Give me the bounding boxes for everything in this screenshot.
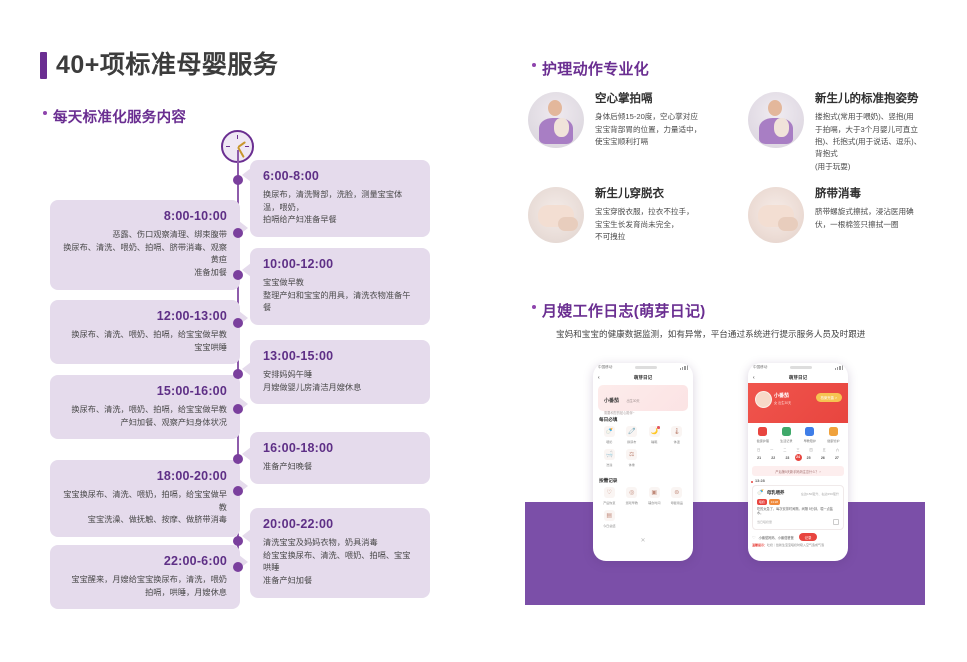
care-item: 空心掌拍嗝身体后倾15-20度，空心掌对应 宝宝背部胃的位置，力量适中， 使宝宝… bbox=[528, 92, 736, 173]
care-row: 新生儿穿脱衣宝宝穿脱衣服，拉衣不拉手， 宝宝生长发育尚未完全， 不可拽拉脐带消毒… bbox=[528, 187, 958, 243]
action-label: 换尿布 bbox=[621, 439, 644, 444]
action-icon: 🛁 bbox=[604, 449, 615, 460]
category-label: 健康管护 bbox=[822, 438, 846, 443]
quick-action-item[interactable]: ▣辅食时间 bbox=[643, 487, 666, 505]
timeline-time: 10:00-12:00 bbox=[263, 257, 417, 272]
required-icon-grid: 🍼喂奶🧷换尿布🌙睡眠🌡体温🛁洗澡⚖体重 bbox=[593, 426, 693, 472]
category-icon bbox=[758, 427, 767, 436]
entry-timestamp: 13:28 bbox=[755, 479, 848, 483]
calendar-day[interactable]: 22 bbox=[766, 454, 780, 462]
timeline-node bbox=[233, 318, 243, 328]
status-bar: 中国移动 bbox=[593, 363, 693, 372]
section-heading-text: 月嫂工作日志(萌芽日记) bbox=[542, 300, 706, 321]
timeline-card: 22:00-6:00宝宝醒来，月嫂给宝宝换尿布，清洗，喂奶 拍嗝，哄睡，月嫂休息 bbox=[50, 545, 240, 609]
action-icon: 🌡 bbox=[671, 426, 682, 437]
care-item-grid: 空心掌拍嗝身体后倾15-20度，空心掌对应 宝宝背部胃的位置，力量适中， 使宝宝… bbox=[528, 92, 958, 257]
timeline-card: 18:00-20:00宝宝换尿布、清洗、喂奶，拍嗝，给宝宝做早教 宝宝洗澡、做抚… bbox=[50, 460, 240, 537]
quick-action-item[interactable]: 🍼喂奶 bbox=[598, 426, 621, 444]
entry-tag-row: 喂奶 13:28 bbox=[757, 499, 839, 505]
timeline-time: 6:00-8:00 bbox=[263, 169, 417, 184]
umbilical-care-photo bbox=[748, 187, 804, 243]
timeline-card: 20:00-22:00清洗宝宝及妈妈衣物，奶具消毒 给宝宝换尿布、清洗、喂奶、拍… bbox=[250, 508, 430, 598]
action-icon: ⊜ bbox=[671, 487, 682, 498]
baby-age: 出生30天 bbox=[626, 399, 639, 403]
signal-icon bbox=[835, 365, 843, 370]
section-heading-text: 护理动作专业化 bbox=[542, 58, 649, 79]
weekday-label: 日 bbox=[752, 446, 765, 454]
category-icon bbox=[782, 427, 791, 436]
action-label: 睡眠 bbox=[643, 439, 666, 444]
entry-subtotal: 当日喂奶量 bbox=[757, 520, 772, 524]
entry-amount: 左边150毫升、右边150毫升 bbox=[801, 491, 839, 496]
section-label-required: 每日必填 bbox=[599, 417, 693, 423]
signal-icon bbox=[680, 365, 688, 370]
worklog-description: 宝妈和宝宝的健康数据监测，如有异常，平台通过系统进行提示服务人员及时跟进 bbox=[556, 328, 956, 341]
timeline-node bbox=[233, 536, 243, 546]
close-icon[interactable]: ✕ bbox=[593, 537, 693, 544]
calendar-day[interactable]: 27 bbox=[830, 454, 844, 462]
action-label: 今日总结 bbox=[598, 523, 621, 528]
weekday-label: 五 bbox=[818, 446, 831, 454]
action-icon: 🍼 bbox=[604, 426, 615, 437]
quick-action-item[interactable]: 🛁洗澡 bbox=[598, 449, 621, 467]
category-tab-row: 健康护理生活记录早教陪护健康管护 bbox=[748, 423, 848, 445]
timeline-node bbox=[233, 369, 243, 379]
card-pointer bbox=[242, 168, 251, 182]
action-label: 游戏早教 bbox=[621, 500, 644, 505]
card-pointer bbox=[242, 263, 251, 277]
action-label: 体重 bbox=[621, 462, 644, 467]
warm-tip-label: 温馨提示： bbox=[752, 543, 767, 547]
category-tab[interactable]: 早教陪护 bbox=[798, 427, 822, 443]
quick-action-item[interactable]: ◎游戏早教 bbox=[621, 487, 644, 505]
category-label: 生活记录 bbox=[775, 438, 799, 443]
weekday-label: 六 bbox=[831, 446, 844, 454]
title-accent-bar bbox=[40, 52, 47, 79]
diary-entry-card[interactable]: 🍼 母乳喂养 左边150毫升、右边150毫升 喂奶 13:28 吃的太急了，每次… bbox=[752, 485, 844, 530]
carrier-label: 中国移动 bbox=[753, 365, 767, 370]
action-icon: 🌙 bbox=[649, 426, 660, 437]
phone-mockup-diary-entry: 中国移动 ‹ 萌芽日记 小番茄 出生30天 需要和您的贴心陪伴~ 每日必填 🍼喂… bbox=[593, 363, 693, 561]
care-title: 空心掌拍嗝 bbox=[595, 92, 736, 106]
entry-tag: 13:28 bbox=[769, 499, 780, 505]
phone-mockup-diary-list: 中国移动 ‹ 萌芽日记 小番茄 女 出生30天 档案完善 > 健康护理生活记录早… bbox=[748, 363, 848, 561]
timeline-body: 换尿布、清洗，喂奶、拍嗝，给宝宝做早教 产妇加餐、观察产妇身体状况 bbox=[63, 404, 227, 429]
timeline-time: 22:00-6:00 bbox=[63, 554, 227, 569]
care-title: 新生儿穿脱衣 bbox=[595, 187, 736, 201]
profile-complete-button[interactable]: 档案完善 > bbox=[816, 393, 842, 402]
badge-dot bbox=[657, 426, 660, 429]
card-pointer bbox=[242, 362, 251, 376]
care-item: 新生儿的标准抱姿势搂抱式(常用于喂奶)、竖抱(用 于拍嗝，大于3个月婴儿可直立 … bbox=[748, 92, 956, 173]
nav-title: 萌芽日记 bbox=[789, 375, 807, 381]
action-icon: ▣ bbox=[649, 487, 660, 498]
category-tab[interactable]: 健康护理 bbox=[751, 427, 775, 443]
heart-icon[interactable]: ♡ bbox=[752, 535, 756, 540]
quick-action-item[interactable]: ♡产后恢复 bbox=[598, 487, 621, 505]
quick-action-item[interactable]: 🌙睡眠 bbox=[643, 426, 666, 444]
timeline-time: 16:00-18:00 bbox=[263, 441, 417, 456]
nav-title: 萌芽日记 bbox=[634, 375, 652, 381]
baby-meta: 女 出生30天 bbox=[774, 400, 791, 405]
timeline-card: 15:00-16:00换尿布、清洗，喂奶、拍嗝，给宝宝做早教 产妇加餐、观察产妇… bbox=[50, 375, 240, 439]
warm-tip: 温馨提示：吐奶｜给新生宝宝喂奶时吸入空气造成气泡 bbox=[752, 543, 844, 547]
timeline-body: 换尿布，清洗臀部，洗脸，测量宝宝体温，喂奶， 拍嗝给产妇准备早餐 bbox=[263, 189, 417, 227]
baby-profile-banner: 小番茄 女 出生30天 档案完善 > bbox=[748, 383, 848, 423]
care-title: 新生儿的标准抱姿势 bbox=[815, 92, 956, 106]
section-label-optional: 按需记录 bbox=[599, 478, 693, 484]
action-icon: ▤ bbox=[604, 510, 615, 521]
timeline-time: 18:00-20:00 bbox=[63, 469, 227, 484]
calendar-strip: 日一二三四五六 21222324252627 bbox=[748, 445, 848, 465]
action-icon: ◎ bbox=[626, 487, 637, 498]
nav-bar: ‹ 萌芽日记 bbox=[748, 372, 848, 383]
care-description: 脐带螺旋式擦拭，浸沾医用碘 伏，一根棉签只擦拭一圈 bbox=[815, 206, 956, 231]
action-icon: ♡ bbox=[604, 487, 615, 498]
dressing-baby-photo bbox=[528, 187, 584, 243]
timeline-body: 安排妈妈午睡 月嫂做婴儿房清洁月嫂休息 bbox=[263, 369, 417, 394]
status-bar: 中国移动 bbox=[748, 363, 848, 372]
timeline-body: 宝宝换尿布、清洗、喂奶，拍嗝，给宝宝做早教 宝宝洗澡、做抚触、按摩、做脐带消毒 bbox=[63, 489, 227, 527]
calendar-day[interactable]: 26 bbox=[816, 454, 830, 462]
timeline-card: 8:00-10:00恶露、伤口观察清理、绑束腹带 换尿布、清洗、喂奶、拍嗝、脐带… bbox=[50, 200, 240, 290]
nurse-cradling-baby-photo bbox=[748, 92, 804, 148]
checkbox-icon[interactable] bbox=[833, 519, 839, 525]
section-heading-worklog: 月嫂工作日志(萌芽日记) bbox=[532, 300, 706, 321]
entry-header: 🍼 母乳喂养 左边150毫升、右边150毫升 bbox=[757, 490, 839, 496]
category-tab[interactable]: 生活记录 bbox=[775, 427, 799, 443]
bottle-icon: 🍼 bbox=[757, 490, 764, 496]
tip-banner[interactable]: 产后第5天新手妈妈注意什么？ › bbox=[752, 466, 844, 476]
timeline-body: 宝宝做早教 整理产妇和宝宝的用具，清洗衣物准备午餐 bbox=[263, 277, 417, 315]
action-label: 喂奶 bbox=[598, 439, 621, 444]
weekday-label: 三 bbox=[791, 446, 804, 454]
calendar-day-selected[interactable]: 24 bbox=[795, 454, 802, 461]
action-label: 洗澡 bbox=[598, 462, 621, 467]
category-tab[interactable]: 健康管护 bbox=[822, 427, 846, 443]
timeline-body: 恶露、伤口观察清理、绑束腹带 换尿布、清洗、喂奶、拍嗝、脐带消毒、观察黄疸 准备… bbox=[63, 229, 227, 280]
care-item: 新生儿穿脱衣宝宝穿脱衣服，拉衣不拉手， 宝宝生长发育尚未完全， 不可拽拉 bbox=[528, 187, 736, 243]
care-row: 空心掌拍嗝身体后倾15-20度，空心掌对应 宝宝背部胃的位置，力量适中， 使宝宝… bbox=[528, 92, 958, 173]
timeline-node bbox=[233, 486, 243, 496]
notch bbox=[635, 366, 657, 369]
timeline-time: 8:00-10:00 bbox=[63, 209, 227, 224]
weekday-row: 日一二三四五六 bbox=[752, 446, 844, 454]
page-title-text: 40+项标准母婴服务 bbox=[56, 53, 278, 78]
purple-background-block bbox=[525, 502, 925, 605]
baby-slogan: 需要和您的贴心陪伴~ bbox=[604, 410, 682, 415]
bullet-dot-icon bbox=[532, 63, 536, 67]
day-row: 21222324252627 bbox=[752, 454, 844, 462]
section-heading-text: 每天标准化服务内容 bbox=[53, 106, 186, 127]
nav-bar: ‹ 萌芽日记 bbox=[593, 372, 693, 383]
timeline-card: 12:00-13:00换尿布、清洗、喂奶、拍嗝，给宝宝做早教 宝宝哄睡 bbox=[50, 300, 240, 364]
optional-icon-grid: ♡产后恢复◎游戏早教▣辅食时间⊜母婴用品▤今日总结 bbox=[593, 487, 693, 533]
avatar bbox=[755, 391, 772, 408]
timeline-node bbox=[233, 562, 243, 572]
timeline-time: 13:00-15:00 bbox=[263, 349, 417, 364]
timeline-time: 15:00-16:00 bbox=[63, 384, 227, 399]
timeline-body: 准备产妇晚餐 bbox=[263, 461, 417, 474]
timeline-body: 换尿布、清洗、喂奶、拍嗝，给宝宝做早教 宝宝哄睡 bbox=[63, 329, 227, 354]
entry-action-row: ♡ 小番茄妈妈、小番茄爸爸 记录 bbox=[752, 533, 844, 541]
chevron-left-icon[interactable]: ‹ bbox=[753, 375, 755, 381]
page-title: 40+项标准母婴服务 bbox=[40, 52, 278, 79]
chevron-left-icon[interactable]: ‹ bbox=[598, 375, 600, 381]
quick-action-item[interactable]: ⊜母婴用品 bbox=[666, 487, 689, 505]
timeline-node bbox=[233, 404, 243, 414]
action-label: 体温 bbox=[666, 439, 689, 444]
weekday-label: 四 bbox=[805, 446, 818, 454]
timeline-node bbox=[233, 270, 243, 280]
timeline-card: 13:00-15:00安排妈妈午睡 月嫂做婴儿房清洁月嫂休息 bbox=[250, 340, 430, 404]
timeline-body: 宝宝醒来，月嫂给宝宝换尿布，清洗，喂奶 拍嗝，哄睡，月嫂休息 bbox=[63, 574, 227, 599]
care-title: 脐带消毒 bbox=[815, 187, 956, 201]
care-item: 脐带消毒脐带螺旋式擦拭，浸沾医用碘 伏，一根棉签只擦拭一圈 bbox=[748, 187, 956, 243]
weekday-label: 二 bbox=[778, 446, 791, 454]
category-label: 健康护理 bbox=[751, 438, 775, 443]
action-label: 母婴用品 bbox=[666, 500, 689, 505]
bullet-dot-icon bbox=[43, 111, 47, 115]
timeline-time: 20:00-22:00 bbox=[263, 517, 417, 532]
entry-footer: 当日喂奶量 bbox=[757, 519, 839, 525]
category-icon bbox=[805, 427, 814, 436]
entry-text: 吃的太急了，每次安排时间隔，间隔 5分钟，喂一点盐水。 bbox=[757, 507, 839, 517]
baby-profile-card[interactable]: 小番茄 出生30天 需要和您的贴心陪伴~ bbox=[598, 385, 688, 411]
timeline-time: 12:00-13:00 bbox=[63, 309, 227, 324]
timeline-card: 16:00-18:00准备产妇晚餐 bbox=[250, 432, 430, 484]
action-label: 辅食时间 bbox=[643, 500, 666, 505]
calendar-day[interactable]: 23 bbox=[780, 454, 794, 462]
warm-tip-text: 吐奶｜给新生宝宝喂奶时吸入空气造成气泡 bbox=[767, 543, 824, 547]
timeline-node bbox=[233, 454, 243, 464]
section-heading-daily-service: 每天标准化服务内容 bbox=[43, 106, 186, 127]
record-button[interactable]: 记录 bbox=[799, 533, 818, 541]
category-label: 早教陪护 bbox=[798, 438, 822, 443]
care-description: 宝宝穿脱衣服，拉衣不拉手， 宝宝生长发育尚未完全， 不可拽拉 bbox=[595, 206, 736, 243]
notch bbox=[790, 366, 812, 369]
timeline-card: 6:00-8:00换尿布，清洗臀部，洗脸，测量宝宝体温，喂奶， 拍嗝给产妇准备早… bbox=[250, 160, 430, 237]
timeline-card: 10:00-12:00宝宝做早教 整理产妇和宝宝的用具，清洗衣物准备午餐 bbox=[250, 248, 430, 325]
care-description: 搂抱式(常用于喂奶)、竖抱(用 于拍嗝，大于3个月婴儿可直立 抱)、托抱式(用于… bbox=[815, 111, 956, 172]
category-icon bbox=[829, 427, 838, 436]
timeline-node bbox=[233, 175, 243, 185]
calendar-day[interactable]: 25 bbox=[802, 454, 816, 462]
quick-action-item[interactable]: ▤今日总结 bbox=[598, 510, 621, 528]
carrier-label: 中国移动 bbox=[598, 365, 612, 370]
quick-action-item[interactable]: 🧷换尿布 bbox=[621, 426, 644, 444]
entry-title: 母乳喂养 bbox=[767, 490, 785, 496]
action-icon: ⚖ bbox=[626, 449, 637, 460]
nurse-holding-baby-photo bbox=[528, 92, 584, 148]
entry-tag: 喂奶 bbox=[757, 499, 767, 505]
baby-name: 小番茄 bbox=[604, 398, 619, 404]
care-description: 身体后倾15-20度，空心掌对应 宝宝背部胃的位置，力量适中， 使宝宝顺利打嗝 bbox=[595, 111, 736, 148]
timeline-body: 清洗宝宝及妈妈衣物，奶具消毒 给宝宝换尿布、清洗、喂奶、拍嗝、宝宝哄睡 准备产妇… bbox=[263, 537, 417, 588]
timeline-node bbox=[233, 228, 243, 238]
action-icon: 🧷 bbox=[626, 426, 637, 437]
quick-action-item[interactable]: ⚖体重 bbox=[621, 449, 644, 467]
left-column: 40+项标准母婴服务 每天标准化服务内容 6:00-8:00换尿布，清洗臀部，洗… bbox=[0, 0, 505, 662]
bullet-dot-icon bbox=[532, 305, 536, 309]
weekday-label: 一 bbox=[765, 446, 778, 454]
infographic-page: 40+项标准母婴服务 每天标准化服务内容 6:00-8:00换尿布，清洗臀部，洗… bbox=[0, 0, 967, 662]
calendar-day[interactable]: 21 bbox=[752, 454, 766, 462]
action-label: 产后恢复 bbox=[598, 500, 621, 505]
liker-names: 小番茄妈妈、小番茄爸爸 bbox=[759, 535, 794, 540]
baby-name: 小番茄 bbox=[774, 392, 789, 399]
card-pointer bbox=[242, 447, 251, 461]
section-heading-care: 护理动作专业化 bbox=[532, 58, 649, 79]
card-pointer bbox=[242, 529, 251, 543]
quick-action-item[interactable]: 🌡体温 bbox=[666, 426, 689, 444]
